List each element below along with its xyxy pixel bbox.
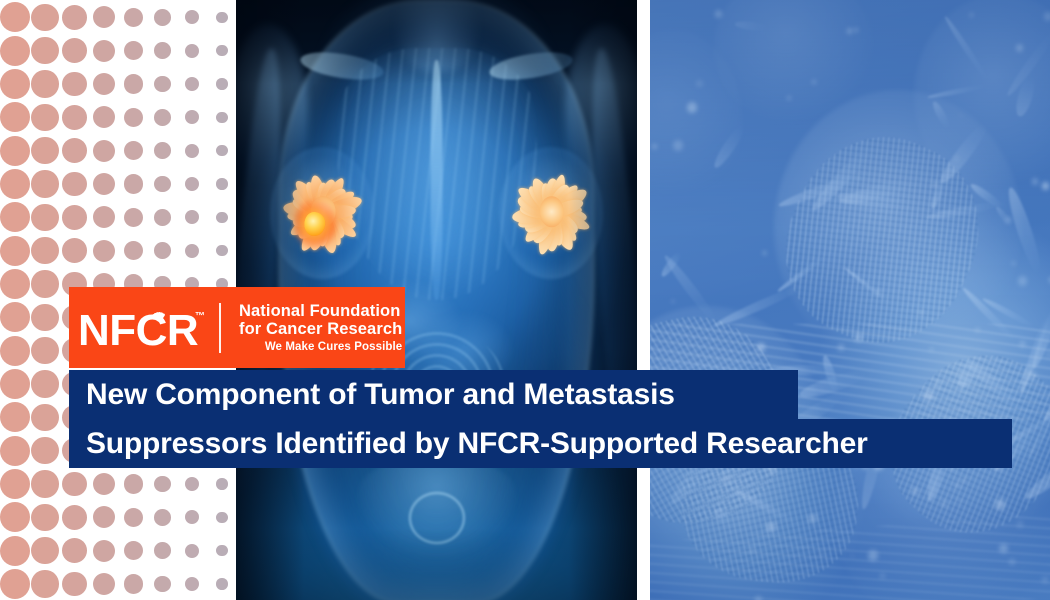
pattern-dot — [185, 177, 199, 191]
pattern-dot — [0, 269, 30, 299]
pattern-dot — [124, 541, 143, 560]
pattern-dot — [93, 540, 115, 562]
pattern-dot — [93, 73, 115, 95]
pattern-dot — [185, 577, 199, 591]
pattern-dot — [154, 576, 171, 593]
pattern-dot — [0, 236, 30, 266]
pattern-dot — [0, 502, 30, 532]
pattern-dot — [93, 6, 115, 28]
pattern-dot — [185, 10, 199, 24]
pattern-dot — [216, 12, 228, 24]
pattern-dot — [154, 9, 171, 26]
pattern-dot — [216, 45, 228, 57]
pattern-dot — [31, 537, 58, 564]
nfcr-logo-text: National Foundation for Cancer Research … — [231, 302, 402, 354]
pattern-dot — [216, 478, 228, 490]
pattern-dot — [62, 238, 87, 263]
headline-line-2: Suppressors Identified by NFCR-Supported… — [69, 419, 1012, 468]
pattern-dot — [185, 110, 199, 124]
pattern-dot — [185, 44, 199, 58]
pattern-dot — [216, 578, 228, 590]
pattern-dot — [185, 244, 199, 258]
nfcr-article-banner: NFCR ™ National Foundation for Cancer Re… — [0, 0, 1050, 600]
pattern-dot — [124, 41, 143, 60]
pattern-dot — [0, 169, 30, 199]
pattern-dot — [31, 4, 58, 31]
pattern-dot — [31, 270, 58, 297]
nfcr-logo-mark: NFCR ™ — [69, 287, 219, 368]
logo-tagline: We Make Cures Possible — [239, 341, 402, 353]
pattern-dot — [216, 512, 228, 524]
pattern-dot — [124, 174, 143, 193]
pattern-dot — [216, 145, 228, 157]
pattern-dot — [216, 78, 228, 90]
pattern-dot — [124, 208, 143, 227]
pattern-dot — [154, 542, 171, 559]
pattern-dot — [0, 469, 30, 499]
pattern-dot — [62, 205, 87, 230]
pattern-dot — [185, 77, 199, 91]
pattern-dot — [124, 8, 143, 27]
micrograph-blue-tint — [650, 0, 1050, 600]
pattern-dot — [154, 209, 171, 226]
pattern-dot — [154, 142, 171, 159]
pattern-dot — [0, 69, 30, 99]
pattern-dot — [0, 202, 30, 232]
pattern-dot — [154, 42, 171, 59]
pattern-dot — [93, 40, 115, 62]
pattern-dot — [0, 2, 30, 32]
pattern-dot — [31, 337, 58, 364]
pattern-dot — [185, 510, 199, 524]
pattern-dot — [31, 170, 58, 197]
nfcr-wordmark: NFCR — [78, 309, 198, 353]
pattern-dot — [0, 336, 30, 366]
pattern-dot — [0, 369, 30, 399]
headline-line-1: New Component of Tumor and Metastasis — [69, 370, 798, 419]
pattern-dot — [62, 5, 87, 30]
pattern-dot — [154, 242, 171, 259]
pattern-dot — [62, 105, 87, 130]
pattern-dot — [124, 74, 143, 93]
pattern-dot — [93, 573, 115, 595]
logo-org-line-1: National Foundation — [239, 302, 402, 320]
pattern-dot — [124, 474, 143, 493]
pattern-dot — [31, 504, 58, 531]
logo-org-line-2: for Cancer Research — [239, 320, 402, 338]
pattern-dot — [0, 402, 30, 432]
cancer-cell-micrograph-panel — [650, 0, 1050, 600]
pattern-dot — [185, 210, 199, 224]
pattern-dot — [93, 473, 115, 495]
pattern-dot — [154, 76, 171, 93]
pattern-dot — [185, 477, 199, 491]
pattern-dot — [62, 538, 87, 563]
pattern-dot — [216, 245, 228, 257]
trademark-icon: ™ — [195, 311, 205, 322]
pattern-dot — [31, 104, 58, 131]
pattern-dot — [0, 102, 30, 132]
pattern-dot — [0, 36, 30, 66]
vertical-divider-icon — [219, 303, 221, 353]
pattern-dot — [93, 140, 115, 162]
pattern-dot — [216, 178, 228, 190]
pattern-dot — [62, 38, 87, 63]
pattern-dot — [31, 437, 58, 464]
pattern-dot — [62, 472, 87, 497]
pattern-dot — [62, 72, 87, 97]
pattern-dot — [31, 404, 58, 431]
pattern-dot — [0, 536, 30, 566]
pattern-dot — [31, 237, 58, 264]
pattern-dot — [62, 172, 87, 197]
pattern-dot — [124, 141, 143, 160]
nfcr-logo-block[interactable]: NFCR ™ National Foundation for Cancer Re… — [69, 287, 405, 368]
pattern-dot — [31, 70, 58, 97]
pattern-dot — [216, 112, 228, 124]
pattern-dot — [124, 574, 143, 593]
pattern-dot — [0, 302, 30, 332]
pattern-dot — [154, 476, 171, 493]
pattern-dot — [62, 572, 87, 597]
pattern-dot — [31, 37, 58, 64]
pattern-dot — [154, 109, 171, 126]
pattern-dot — [124, 108, 143, 127]
pattern-dot — [216, 212, 228, 224]
pattern-dot — [31, 570, 58, 597]
pattern-dot — [62, 138, 87, 163]
pattern-dot — [185, 544, 199, 558]
pattern-dot — [124, 241, 143, 260]
pattern-dot — [154, 509, 171, 526]
pattern-dot — [31, 304, 58, 331]
pattern-dot — [93, 206, 115, 228]
pattern-dot — [31, 137, 58, 164]
pattern-dot — [0, 569, 30, 599]
pattern-dot — [0, 436, 30, 466]
pattern-dot — [31, 204, 58, 231]
pattern-dot — [185, 144, 199, 158]
pattern-dot — [93, 106, 115, 128]
pattern-dot — [31, 470, 58, 497]
pattern-dot — [93, 173, 115, 195]
pattern-dot — [93, 506, 115, 528]
pattern-dot — [154, 176, 171, 193]
pattern-dot — [93, 240, 115, 262]
pattern-dot — [124, 508, 143, 527]
pattern-dot — [31, 370, 58, 397]
pattern-dot — [0, 136, 30, 166]
pattern-dot — [216, 545, 228, 557]
pattern-dot — [62, 505, 87, 530]
